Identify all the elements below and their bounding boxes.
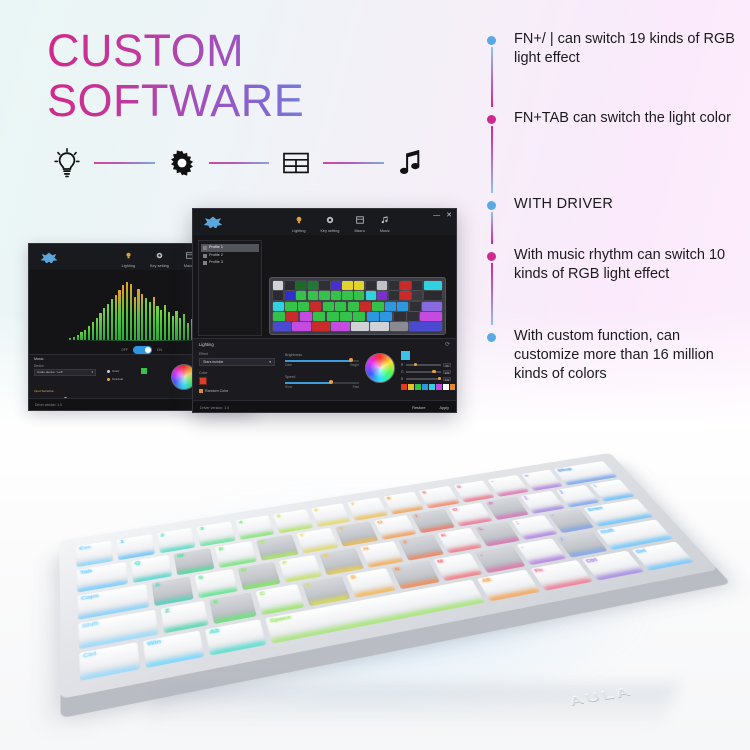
- product-photo-keyboard: Esc1234567890-=BkspTabQWERTYUIOP[]\CapsA…: [60, 432, 720, 732]
- visualizer-bar: [111, 299, 113, 340]
- palette-swatch[interactable]: [415, 384, 421, 390]
- keyboard-preview-key[interactable]: [273, 302, 284, 311]
- keyboard-preview-key[interactable]: [370, 322, 388, 331]
- keycap-legend: I: [415, 515, 419, 519]
- chevron-down-icon: ▾: [269, 360, 271, 364]
- close-button[interactable]: ✕: [446, 212, 452, 219]
- rgb-value[interactable]: 59: [443, 363, 451, 367]
- bullet-connector: [491, 126, 493, 193]
- keyboard-preview-key[interactable]: [342, 281, 352, 290]
- keyboard-preview-key[interactable]: [300, 312, 312, 321]
- rgb-slider-b[interactable]: B232: [401, 377, 451, 381]
- keyboard-preview-row: [273, 322, 442, 331]
- keyboard-preview-row: [273, 291, 442, 300]
- keycap-legend: L: [478, 527, 484, 531]
- profile-icon: [203, 261, 207, 265]
- keyboard-preview-key[interactable]: [409, 322, 442, 331]
- palette-swatch[interactable]: [401, 384, 407, 390]
- keycap: B: [347, 568, 396, 598]
- keycap: 9: [419, 486, 460, 509]
- title-line-1: CUSTOM: [47, 26, 447, 76]
- window-tabs[interactable]: Lighting Key setting Macro: [292, 212, 390, 233]
- keycap: 5: [273, 509, 313, 533]
- keycap-legend: U: [377, 520, 383, 525]
- keyboard-preview-key[interactable]: [351, 322, 369, 331]
- keyboard-preview-key[interactable]: [296, 281, 306, 290]
- radio-dot: [107, 370, 110, 373]
- keyboard-preview-key[interactable]: [366, 291, 376, 300]
- keyboard-preview-key[interactable]: [340, 312, 352, 321]
- visualizer-bar: [168, 312, 170, 340]
- keycap-legend: Fn: [534, 568, 545, 574]
- music-icon: [381, 212, 389, 228]
- rgb-sliders[interactable]: R59G192B232: [401, 363, 451, 384]
- keyboard-preview-key[interactable]: [400, 281, 410, 290]
- keycap-legend: Caps: [81, 594, 99, 602]
- keyboard-preview-key[interactable]: [424, 281, 443, 290]
- toggle-on-label: ON: [157, 348, 162, 352]
- visualizer-bar: [175, 311, 177, 340]
- bullet-dot: [487, 201, 496, 210]
- keyboard-preview-key[interactable]: [348, 302, 359, 311]
- random-color-checkbox[interactable]: Random Color: [199, 389, 228, 393]
- keycap: Esc: [76, 541, 114, 568]
- radio-gradual[interactable]: Gradual: [107, 377, 123, 381]
- keycap-legend: Enter: [587, 506, 604, 512]
- keyboard-preview-key[interactable]: [394, 312, 406, 321]
- keyboard-preview-key[interactable]: [412, 281, 422, 290]
- keycap-legend: 4: [238, 521, 243, 525]
- keycap-legend: G: [323, 554, 330, 559]
- keycap-legend: Del: [635, 549, 648, 555]
- keycap-legend: \: [593, 485, 597, 489]
- slider-knob[interactable]: [438, 377, 441, 380]
- color-wheel[interactable]: [365, 353, 395, 383]
- visualizer-bar: [149, 302, 151, 340]
- keycap-legend: 5: [276, 514, 281, 518]
- page-title: CUSTOM SOFTWARE: [47, 26, 447, 127]
- keycap-legend: Shift: [599, 529, 615, 535]
- aula-logo-icon: [36, 249, 62, 265]
- keyboard-preview-key[interactable]: [420, 312, 442, 321]
- keyboard-preview-key[interactable]: [422, 302, 442, 311]
- visualizer-bar: [80, 332, 82, 340]
- radio-dot: [107, 378, 110, 381]
- keycap: 1: [117, 534, 155, 560]
- keycap-legend: P: [488, 502, 494, 506]
- keycap-legend: /: [560, 538, 564, 542]
- list-item: With custom function, can customize more…: [487, 327, 735, 384]
- rgb-label: G: [401, 370, 404, 374]
- list-item[interactable]: Profile 2: [201, 252, 259, 260]
- keycap-legend: 7: [350, 503, 355, 507]
- rgb-label: R: [401, 363, 404, 367]
- keyboard-preview-key[interactable]: [360, 302, 371, 311]
- visualizer-bar: [156, 306, 158, 340]
- keyboard-preview-key[interactable]: [400, 291, 410, 300]
- bullet-text: FN+TAB can switch the light color: [514, 109, 735, 128]
- keycap: N: [390, 560, 440, 589]
- keycap-legend: 6: [314, 508, 319, 512]
- keyboard-preview-key[interactable]: [296, 291, 306, 300]
- keyboard-preview-row: [273, 312, 442, 321]
- visualizer-bar: [137, 289, 139, 340]
- keycap-legend: Alt: [481, 578, 492, 584]
- visualizer-bar: [130, 284, 132, 340]
- driver-version-label: Driver version: 1.0: [200, 406, 229, 410]
- keycap-legend: Y: [339, 527, 345, 532]
- keyboard-preview[interactable]: [269, 277, 446, 335]
- keyboard-preview-key[interactable]: [308, 281, 318, 290]
- connector-line-2: [209, 162, 270, 164]
- visualizer-bar: [107, 304, 109, 340]
- list-item[interactable]: Profile 3: [201, 259, 259, 267]
- keyboard-preview-key[interactable]: [286, 312, 298, 321]
- color-label: Color: [199, 371, 277, 375]
- keycap-legend: ;: [515, 521, 519, 525]
- keycap-legend: F: [282, 561, 287, 566]
- list-item: WITH DRIVER: [487, 195, 735, 246]
- palette-swatch[interactable]: [422, 384, 428, 390]
- keycap: 7: [347, 497, 388, 520]
- keyboard-preview-key[interactable]: [367, 312, 379, 321]
- tab-music[interactable]: Music: [380, 212, 390, 233]
- visualizer-bar: [99, 313, 101, 340]
- keycap-legend: R: [259, 540, 265, 545]
- keycap: 2: [157, 528, 196, 554]
- slider-track[interactable]: [406, 371, 441, 373]
- keycap-legend: Ctrl: [83, 651, 97, 659]
- list-item: FN+TAB can switch the light color: [487, 109, 735, 195]
- effect-value: Stars twinkle: [203, 360, 223, 364]
- software-window-lighting[interactable]: Lighting Key setting Macro: [192, 208, 457, 413]
- keycap-legend: Space: [269, 615, 292, 624]
- bulb-icon: [125, 247, 132, 263]
- palette-swatch[interactable]: [436, 384, 442, 390]
- palette-swatch[interactable]: [429, 384, 435, 390]
- radio-label: Gradual: [112, 377, 123, 381]
- keyboard-preview-key[interactable]: [331, 291, 341, 300]
- keyboard-preview-key[interactable]: [410, 302, 421, 311]
- keycap-legend: D: [241, 568, 247, 573]
- macro-icon: [356, 212, 364, 228]
- restore-button[interactable]: Restore: [412, 406, 425, 410]
- slider-track[interactable]: [285, 382, 359, 384]
- keycap-legend: ': [551, 515, 555, 519]
- promo-page: CUSTOM SOFTWARE: [0, 0, 750, 750]
- music-sync-toggle[interactable]: [133, 346, 152, 354]
- keyboard-preview-key[interactable]: [327, 312, 339, 321]
- brightness-label: Brightness: [285, 353, 302, 357]
- keyboard-preview-key[interactable]: [377, 291, 387, 300]
- keycap-legend: T: [299, 534, 304, 539]
- window-statusbar: Driver version: 1.0 Restore Apply: [193, 400, 456, 413]
- keycap-legend: ]: [559, 490, 564, 494]
- keyboard-preview-key[interactable]: [335, 302, 346, 311]
- profile-label: Profile 3: [209, 260, 223, 266]
- keyboard-preview-row: [273, 302, 442, 311]
- keycap-legend: [: [524, 496, 528, 500]
- slider-track[interactable]: [406, 378, 441, 380]
- profile-label: Profile 1: [209, 245, 223, 251]
- bullet-connector: [491, 263, 493, 325]
- keyboard-preview-key[interactable]: [342, 291, 352, 300]
- slider-knob[interactable]: [432, 370, 435, 373]
- color-wheel-inner: [370, 358, 390, 378]
- window-controls[interactable]: — ✕: [433, 212, 452, 219]
- keycap-legend: Esc: [79, 545, 91, 551]
- keycap: U: [374, 515, 417, 540]
- visualizer-bar: [172, 316, 174, 340]
- keyboard-preview-key[interactable]: [308, 291, 318, 300]
- keyboard-preview-key[interactable]: [366, 281, 376, 290]
- rgb-value[interactable]: 232: [443, 377, 451, 381]
- bullet-connector: [491, 212, 493, 244]
- tab-key-setting[interactable]: Key setting: [321, 212, 340, 233]
- music-note-icon: [392, 144, 430, 182]
- tab-label: Key setting: [321, 229, 340, 233]
- keyboard-preview-key[interactable]: [273, 281, 283, 290]
- keycap-legend: 3: [200, 527, 204, 531]
- keycap-legend: 2: [160, 533, 164, 538]
- list-item[interactable]: Profile 1: [201, 244, 259, 252]
- profile-panel[interactable]: Profile 1Profile 2Profile 3: [198, 240, 262, 336]
- keyboard-preview-key[interactable]: [273, 291, 283, 300]
- preview-swatch[interactable]: [401, 351, 410, 360]
- rgb-value[interactable]: 192: [443, 370, 451, 374]
- bullet-text: With custom function, can customize more…: [514, 327, 735, 384]
- gear-icon: [163, 144, 201, 182]
- palette-swatch[interactable]: [450, 384, 456, 390]
- keyboard-preview-key[interactable]: [298, 302, 309, 311]
- checkbox-box: [199, 389, 203, 393]
- speed-label: Speed: [285, 375, 295, 379]
- speed-min-label: Slow: [285, 385, 292, 389]
- window-body: Profile 1Profile 2Profile 3 + ▤ ✎ Lighti…: [193, 235, 456, 413]
- palette-swatch[interactable]: [408, 384, 414, 390]
- bullet-connector: [491, 47, 493, 107]
- keycap: G: [320, 548, 364, 575]
- keycap-legend: 8: [386, 497, 391, 501]
- brightness-max-label: Bright: [350, 363, 359, 367]
- tab-label: Music: [380, 229, 390, 233]
- keycap: 4: [235, 515, 274, 540]
- palette-swatch[interactable]: [443, 384, 449, 390]
- rgb-slider-g[interactable]: G192: [401, 370, 451, 374]
- effect-label: Effect: [199, 352, 277, 356]
- keycap: 6: [311, 503, 351, 527]
- radio-label: Color: [112, 369, 119, 373]
- gear-icon: [156, 247, 163, 263]
- connector-line-3: [323, 162, 384, 164]
- keycap-legend: Bksp: [557, 467, 573, 472]
- keyboard-preview-row: [273, 281, 442, 290]
- keycap-legend: 1: [120, 540, 124, 545]
- keyboard-preview-key[interactable]: [310, 302, 321, 311]
- window-tabs[interactable]: Lighting Key setting Macro: [122, 247, 195, 268]
- gear-icon: [326, 212, 334, 228]
- tab-key-setting[interactable]: Key setting: [150, 247, 169, 268]
- profile-icon: [203, 254, 207, 258]
- keyboard-preview-key[interactable]: [407, 312, 419, 321]
- tab-label: Lighting: [292, 229, 305, 233]
- color-group: Color: [199, 371, 277, 385]
- bullet-dot: [487, 252, 496, 261]
- visualizer-bar: [115, 295, 117, 340]
- slider-track[interactable]: [406, 364, 441, 366]
- keyboard-preview-key[interactable]: [390, 322, 408, 331]
- keyboard-preview-key[interactable]: [397, 302, 408, 311]
- keycap: L: [475, 521, 521, 546]
- table-icon: [277, 144, 315, 182]
- visualizer-bar: [134, 297, 136, 340]
- keyboard-preview-key[interactable]: [323, 302, 334, 311]
- bullet-dot: [487, 333, 496, 342]
- apply-button[interactable]: Apply: [440, 406, 450, 410]
- visualizer-bar: [153, 297, 155, 340]
- keycap-legend: O: [452, 508, 459, 512]
- visualizer-bar: [84, 330, 86, 340]
- keycap-legend: =: [524, 474, 530, 478]
- brightness-min-label: Dark: [285, 363, 292, 367]
- keycap-legend: W: [177, 554, 184, 559]
- profile-icon: [203, 246, 207, 250]
- rgb-slider-r[interactable]: R59: [401, 363, 451, 367]
- visualizer-bar: [141, 294, 143, 340]
- keyboard-preview-key[interactable]: [331, 281, 341, 290]
- keyboard-preview-key[interactable]: [312, 322, 330, 331]
- keycap-legend: Win: [147, 639, 162, 647]
- visualizer-bar: [126, 282, 128, 340]
- checkbox-label: Random Color: [205, 389, 228, 393]
- bullet-dot: [487, 36, 496, 45]
- keyboard-preview-key[interactable]: [424, 291, 443, 300]
- profile-list[interactable]: Profile 1Profile 2Profile 3: [199, 241, 261, 270]
- visualizer-bar: [92, 322, 94, 340]
- keyboard-preview-key[interactable]: [313, 312, 325, 321]
- device-label: Device: [34, 364, 44, 368]
- keyboard-preview-key[interactable]: [354, 281, 364, 290]
- visualizer-bar: [103, 308, 105, 340]
- visualizer-bar: [179, 318, 181, 340]
- keycap: I: [411, 509, 455, 533]
- panel-title: Music: [34, 357, 43, 361]
- panel-title: Lighting: [199, 342, 214, 347]
- keycap: T: [296, 528, 339, 554]
- keyboard-preview-key[interactable]: [273, 312, 285, 321]
- keycap-legend: 9: [422, 491, 427, 495]
- color-swatch-green[interactable]: [141, 368, 147, 374]
- keyboard-preview-key[interactable]: [380, 312, 392, 321]
- rgb-label: B: [401, 377, 404, 381]
- bullet-text: WITH DRIVER: [514, 195, 735, 214]
- keyboard-preview-key[interactable]: [389, 281, 399, 290]
- visualizer-bar: [187, 323, 189, 340]
- bullet-dot: [487, 115, 496, 124]
- tab-lighting[interactable]: Lighting: [292, 212, 305, 233]
- tab-macro[interactable]: Macro: [354, 212, 365, 233]
- feature-icon-strip: [48, 143, 430, 183]
- refresh-icon[interactable]: ⟳: [445, 342, 450, 348]
- slider-fill: [285, 360, 350, 362]
- lightbulb-icon: [48, 144, 86, 182]
- keycap: J: [399, 534, 444, 560]
- color-palette[interactable]: [401, 384, 455, 390]
- keycap: 8: [383, 492, 424, 515]
- keycap: 0: [453, 480, 495, 502]
- connector-line-1: [94, 162, 155, 164]
- bullet-text: FN+/ | can switch 19 kinds of RGB light …: [514, 30, 735, 68]
- audio-device-value: Audio device : Left: [37, 370, 62, 374]
- keycap-legend: A: [155, 583, 161, 588]
- keyboard-preview-key[interactable]: [285, 302, 296, 311]
- visualizer-bar: [160, 310, 162, 340]
- tab-lighting[interactable]: Lighting: [122, 247, 135, 268]
- visualizer-bar: [122, 285, 124, 340]
- keyboard-preview-key[interactable]: [354, 291, 364, 300]
- keycap: V: [302, 576, 351, 606]
- keycap: Y: [335, 521, 378, 546]
- audio-device-select[interactable]: Audio device : Left ▾: [34, 369, 96, 376]
- color-swatch[interactable]: [199, 377, 207, 385]
- profile-label: Profile 2: [209, 253, 223, 259]
- list-item: With music rhythm can switch 10 kinds of…: [487, 246, 735, 327]
- tab-label: Lighting: [122, 264, 135, 268]
- keyboard-preview-key[interactable]: [389, 291, 399, 300]
- keyboard-preview-key[interactable]: [292, 322, 310, 331]
- slider-track[interactable]: [285, 360, 359, 362]
- tab-label: Macro: [354, 229, 365, 233]
- keyboard-preview-key[interactable]: [319, 281, 329, 290]
- visualizer-bar: [88, 326, 90, 340]
- keyboard-preview-key[interactable]: [273, 322, 291, 331]
- keycap: -: [487, 475, 529, 497]
- keycap-legend: K: [441, 533, 448, 538]
- effect-select[interactable]: Stars twinkle ▾: [199, 358, 275, 366]
- visualizer-bar: [96, 318, 98, 340]
- speed-slider[interactable]: Speed Slow Fast: [285, 375, 381, 389]
- toggle-off-label: OFF: [121, 348, 128, 352]
- window-titlebar: Lighting Key setting Macro: [193, 209, 456, 235]
- aula-logo-icon: [200, 214, 226, 230]
- keyboard-preview-key[interactable]: [353, 312, 365, 321]
- keyboard-preview-key[interactable]: [319, 291, 329, 300]
- visualizer-bar: [145, 298, 147, 340]
- keyboard-preview-key[interactable]: [285, 291, 295, 300]
- bulb-icon: [295, 212, 303, 228]
- radio-color[interactable]: Color: [107, 369, 119, 373]
- driver-version-label: Driver version: 1.0: [35, 403, 62, 407]
- keycap-legend: .: [520, 545, 524, 549]
- keyboard-preview-key[interactable]: [285, 281, 295, 290]
- keyboard-preview-key[interactable]: [372, 302, 383, 311]
- keyboard-preview-key[interactable]: [412, 291, 422, 300]
- feature-bullet-list: FN+/ | can switch 19 kinds of RGB light …: [487, 30, 735, 384]
- keycap-legend: Q: [134, 561, 140, 566]
- keycap: R: [256, 534, 298, 560]
- keycap-legend: 0: [456, 485, 461, 489]
- keyboard-preview-key[interactable]: [331, 322, 349, 331]
- keycap-legend: H: [363, 547, 369, 552]
- keyboard-preview-key[interactable]: [385, 302, 396, 311]
- keycap: P: [485, 497, 529, 520]
- keycap: E: [215, 541, 257, 568]
- bullet-text: With music rhythm can switch 10 kinds of…: [514, 246, 735, 284]
- minimize-button[interactable]: —: [433, 212, 440, 219]
- keycap-legend: E: [219, 547, 224, 552]
- slider-knob[interactable]: [414, 363, 417, 366]
- keyboard-preview-key[interactable]: [377, 281, 387, 290]
